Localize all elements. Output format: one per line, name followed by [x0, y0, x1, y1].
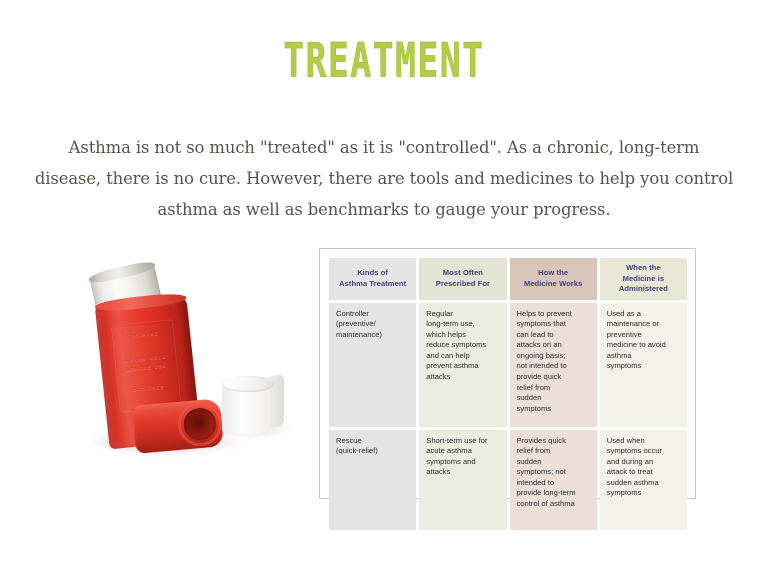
treatment-comparison-table: Kinds of Asthma Treatment Most Often Pre…: [319, 248, 696, 499]
mouthpiece-lip: [176, 400, 224, 448]
slide-canvas: TREATMENT Asthma is not so much "treated…: [0, 0, 768, 561]
column-header-most-often-prescribed-for: Most Often Prescribed For: [419, 258, 506, 300]
column-header-when-the-medicine-is-administered: When the Medicine is Administered: [600, 258, 687, 300]
cell-controller-how-it-works: Helps to prevent symptoms that can lead …: [510, 303, 597, 427]
cell-controller-prescribed-for: Regular long-term use, which helps reduc…: [419, 303, 506, 427]
intro-paragraph: Asthma is not so much "treated" as it is…: [34, 132, 734, 225]
inhaler-embossed-panel: CFC-FREE SHAKE WELL BEFORE USE CFC-FREE: [111, 319, 182, 413]
cell-rescue-when-administered: Used when symptoms occur and during an a…: [600, 430, 687, 530]
column-header-kinds-of-asthma-treatment: Kinds of Asthma Treatment: [329, 258, 416, 300]
column-header-how-the-medicine-works: How the Medicine Works: [510, 258, 597, 300]
cap-top-rim: [222, 376, 274, 392]
canister-top-rim: [88, 259, 157, 285]
inhaler-cap: [222, 374, 284, 436]
cell-controller-when-administered: Used as a maintenance or preventive medi…: [600, 303, 687, 427]
table-row-controller: Controller (preventive/ maintenance) Reg…: [329, 303, 687, 427]
page-title: TREATMENT: [69, 36, 699, 85]
inhaler-mouthpiece: [132, 398, 224, 453]
embossed-text-line-4: CFC-FREE: [118, 383, 180, 394]
embossed-text-line-1: CFC-FREE: [112, 329, 174, 340]
inhaler-illustration: R0396C 12 2004 CFC-FREE SHAKE WELL BEFOR…: [72, 262, 292, 474]
embossed-text-line-3: BEFORE USE: [115, 362, 177, 373]
cell-controller-kind: Controller (preventive/ maintenance): [329, 303, 416, 427]
cell-rescue-how-it-works: Provides quick relief from sudden sympto…: [510, 430, 597, 530]
table-row-rescue: Rescue (quick-relief) Short-term use for…: [329, 430, 687, 530]
cell-rescue-prescribed-for: Short-term use for acute asthma symptoms…: [419, 430, 506, 530]
table-header-row: Kinds of Asthma Treatment Most Often Pre…: [329, 258, 687, 300]
cell-rescue-kind: Rescue (quick-relief): [329, 430, 416, 530]
